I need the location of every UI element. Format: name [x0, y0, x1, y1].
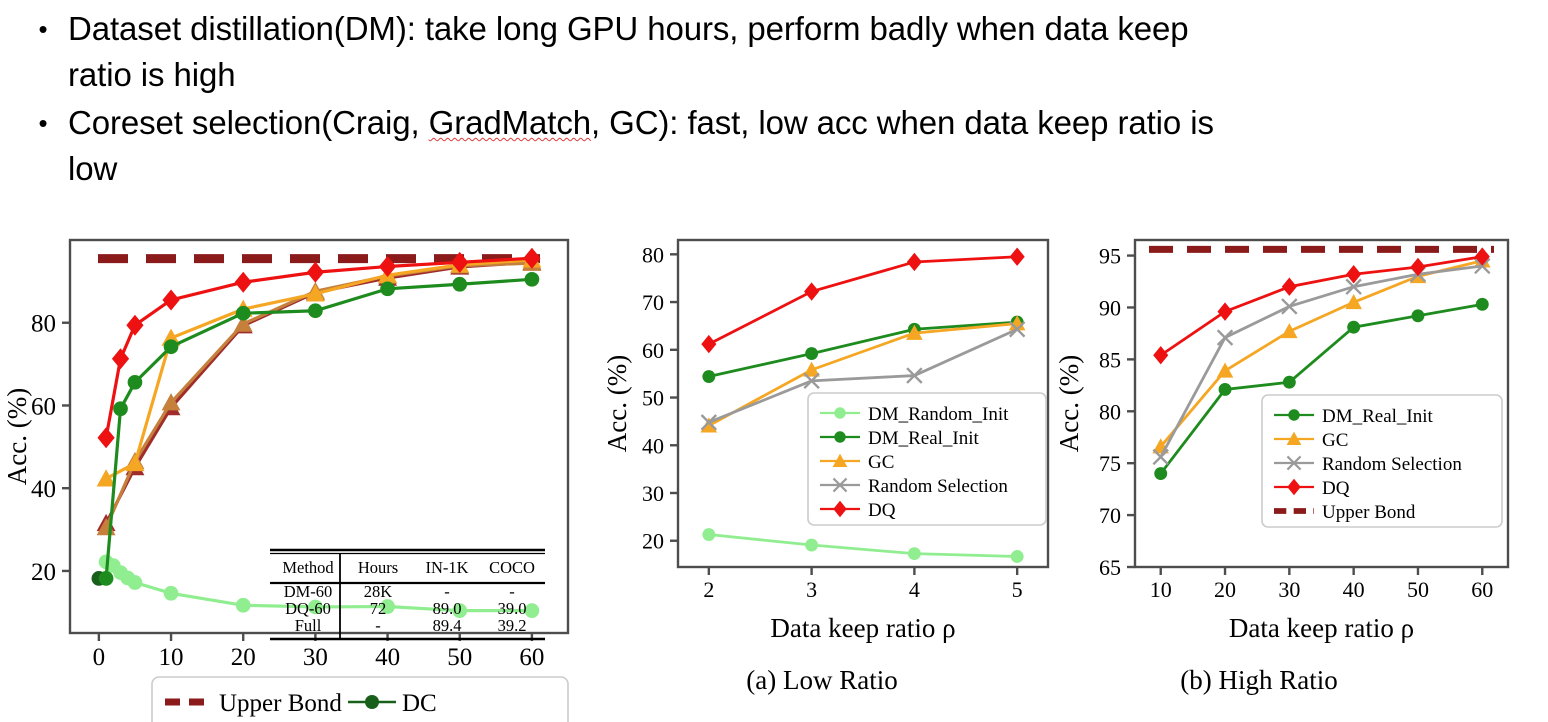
table-cell: Full [295, 616, 322, 635]
bullet-item-2: • Coreset selection(Craig, GradMatch, GC… [18, 100, 1498, 192]
y-tick-label: 20 [642, 529, 664, 554]
chart-overall: 010203040506020406080Data keep ratio ρAc… [0, 215, 600, 722]
x-tick-label: 20 [1214, 577, 1236, 602]
table-cell: - [375, 616, 381, 635]
data-point-circle-marker [1154, 467, 1167, 480]
legend-label: GC [868, 452, 894, 473]
y-tick-label: 80 [642, 242, 664, 267]
y-axis-title: Acc. (%) [2, 388, 32, 485]
data-point-circle-marker [1011, 550, 1024, 563]
y-axis-title: Acc. (%) [1054, 355, 1084, 452]
data-point-circle-marker [1288, 409, 1299, 420]
chart-low-ratio-caption: (a) Low Ratio [592, 665, 1052, 696]
table-cell: 89.4 [433, 616, 462, 635]
data-point-circle-marker [834, 431, 845, 442]
high-ratio-plot: 10203040506065707580859095Data keep rati… [1050, 215, 1548, 665]
chart-legend: DM_Random_InitDM_Real_InitGCRandom Selec… [808, 393, 1046, 525]
y-tick-label: 75 [1099, 451, 1121, 476]
bullet-2-line-1-prefix: Coreset selection(Craig, [68, 104, 429, 141]
misspelled-word: GradMatch [429, 104, 591, 141]
bullet-2-line-1-suffix: , GC): fast, low acc when data keep rati… [591, 104, 1214, 141]
data-point-circle-marker [1412, 309, 1425, 322]
y-tick-label: 95 [1099, 244, 1121, 269]
data-point-circle-marker [805, 539, 818, 552]
x-tick-label: 5 [1012, 577, 1023, 602]
data-point-circle-marker [525, 603, 540, 618]
data-point-circle-marker [805, 347, 818, 360]
legend-label: DC [402, 690, 437, 717]
legend-label: DM_Random_Init [868, 404, 1009, 425]
y-tick-label: 70 [642, 290, 664, 315]
legend-label: DM_Real_Init [1322, 406, 1434, 427]
data-point-circle-marker [236, 306, 251, 321]
data-point-circle-marker [702, 528, 715, 541]
bullet-marker-icon: • [18, 100, 68, 146]
chart-low-ratio: 234520304050607080Data keep ratio ρAcc. … [600, 215, 1060, 665]
table-header-cell: Hours [358, 558, 398, 577]
data-point-circle-marker [1347, 321, 1360, 334]
data-point-circle-marker [702, 370, 715, 383]
data-point-circle-marker [128, 575, 143, 590]
low-ratio-plot: 234520304050607080Data keep ratio ρAcc. … [600, 215, 1060, 665]
x-axis-title: Data keep ratio ρ [1229, 613, 1414, 643]
legend-label: GC [1322, 430, 1348, 451]
chart-legend: DM_Real_InitGCRandom SelectionDQUpper Bo… [1262, 395, 1502, 527]
chart-legend: Upper BondCraigGradMatchGCDCDM_Random_In… [152, 677, 587, 722]
legend-label: DM_Real_Init [868, 428, 980, 449]
bullet-1-text: Dataset distillation(DM): take long GPU … [68, 6, 1189, 98]
data-point-circle-marker [164, 339, 179, 354]
x-tick-label: 3 [806, 577, 817, 602]
slide-text-block: • Dataset distillation(DM): take long GP… [0, 0, 1548, 190]
x-tick-label: 30 [1278, 577, 1300, 602]
y-tick-label: 30 [642, 481, 664, 506]
bullet-2-text: Coreset selection(Craig, GradMatch, GC):… [68, 100, 1214, 192]
chart-high-ratio: 10203040506065707580859095Data keep rati… [1050, 215, 1548, 665]
data-point-circle-marker [452, 277, 467, 292]
figure-panel: 010203040506020406080Data keep ratio ρAc… [0, 215, 1548, 722]
legend-label: Upper Bond [1322, 502, 1416, 523]
x-tick-label: 30 [303, 644, 328, 671]
y-tick-label: 90 [1099, 295, 1121, 320]
data-point-circle-marker [128, 375, 143, 390]
data-point-circle-marker [834, 407, 845, 418]
table-header-cell: IN-1K [425, 558, 468, 577]
x-axis-title: Data keep ratio ρ [770, 613, 955, 643]
x-tick-label: 60 [1471, 577, 1493, 602]
y-tick-label: 65 [1099, 555, 1121, 580]
data-point-circle-marker [1476, 298, 1489, 311]
bullet-1-line-1: Dataset distillation(DM): take long GPU … [68, 10, 1189, 47]
legend-box [152, 677, 568, 722]
x-tick-label: 20 [231, 644, 256, 671]
data-point-circle-marker [525, 272, 540, 287]
y-tick-label: 40 [642, 433, 664, 458]
x-tick-label: 50 [447, 644, 472, 671]
x-tick-label: 0 [93, 644, 106, 671]
y-tick-label: 60 [31, 393, 56, 420]
data-point-circle-marker [1219, 383, 1232, 396]
legend-label: Upper Bond [219, 690, 342, 717]
data-point-circle-marker [113, 401, 128, 416]
x-tick-label: 40 [375, 644, 400, 671]
data-point-circle-marker [164, 586, 179, 601]
legend-label: DQ [868, 500, 896, 521]
data-point-circle-marker [1283, 376, 1296, 389]
y-tick-label: 60 [642, 338, 664, 363]
overall-accuracy-plot: 010203040506020406080Data keep ratio ρAc… [0, 215, 600, 722]
bullet-1-line-2: ratio is high [68, 56, 235, 93]
legend-label: Random Selection [1322, 454, 1462, 475]
y-tick-label: 40 [31, 476, 56, 503]
table-header-cell: Method [282, 558, 334, 577]
legend-label: Random Selection [868, 476, 1008, 497]
x-tick-label: 60 [519, 644, 544, 671]
x-tick-label: 2 [703, 577, 714, 602]
y-axis-title: Acc. (%) [602, 355, 632, 452]
y-tick-label: 70 [1099, 503, 1121, 528]
data-point-circle-marker [380, 281, 395, 296]
chart-high-ratio-caption: (b) High Ratio [1010, 665, 1508, 696]
x-tick-label: 40 [1343, 577, 1365, 602]
x-tick-label: 10 [1150, 577, 1172, 602]
y-tick-label: 20 [31, 559, 56, 586]
legend-label: DQ [1322, 478, 1350, 499]
y-tick-label: 80 [31, 311, 56, 338]
x-tick-label: 4 [909, 577, 920, 602]
data-point-circle-marker [908, 547, 921, 560]
x-tick-label: 10 [159, 644, 184, 671]
table-header-cell: COCO [489, 558, 535, 577]
y-tick-label: 85 [1099, 347, 1121, 372]
y-tick-label: 80 [1099, 399, 1121, 424]
bullet-item-1: • Dataset distillation(DM): take long GP… [18, 6, 1498, 98]
table-cell: 39.2 [498, 616, 527, 635]
data-point-circle-marker [308, 303, 323, 318]
bullet-2-line-2: low [68, 150, 117, 187]
bullet-marker-icon: • [18, 6, 68, 52]
data-point-circle-marker [236, 598, 251, 613]
data-point-circle-marker [365, 695, 379, 709]
data-point-circle-marker [99, 571, 114, 586]
x-tick-label: 50 [1407, 577, 1429, 602]
y-tick-label: 50 [642, 386, 664, 411]
